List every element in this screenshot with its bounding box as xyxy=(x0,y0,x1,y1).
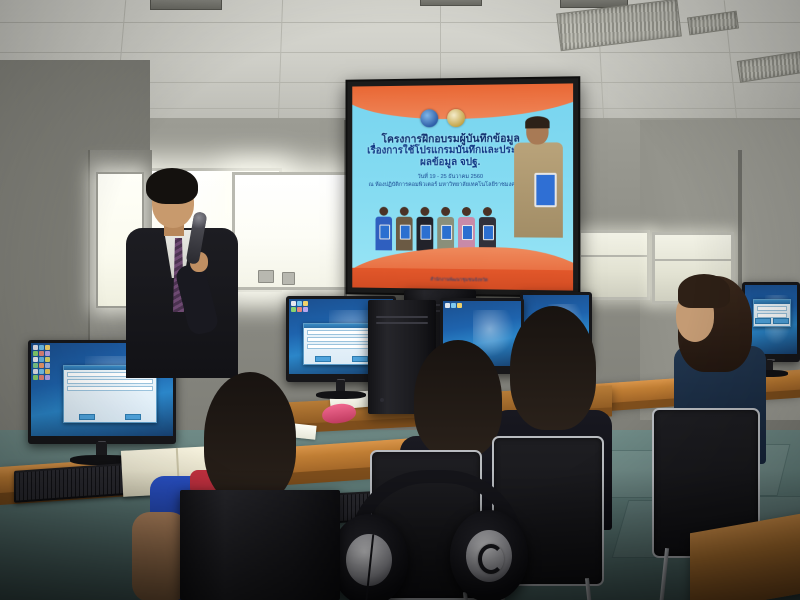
speaker-presenter xyxy=(128,168,240,388)
participant-center-head xyxy=(414,340,502,458)
recessed-ceiling-light-1 xyxy=(150,0,222,10)
participant-center-right-head xyxy=(510,306,596,430)
slide-person xyxy=(375,207,392,251)
slide-person xyxy=(417,207,434,251)
headphones-foreground[interactable] xyxy=(330,470,530,600)
slide-tablet-icon xyxy=(534,173,556,207)
headphone-earcup-right xyxy=(450,510,528,600)
desktop-icon-grid[interactable] xyxy=(33,345,50,380)
slide-officer-figure xyxy=(512,118,565,238)
slide-logo-row xyxy=(420,109,465,127)
slide-person xyxy=(458,207,475,251)
wall-outlet-2[interactable] xyxy=(282,272,295,285)
photo-scene: โครงการฝึกอบรมผู้บันทึกข้อมูล เรื่องการใ… xyxy=(0,0,800,600)
pc-tower-left xyxy=(180,490,340,600)
participant-blue-head xyxy=(204,372,296,504)
slide-person xyxy=(396,207,413,251)
slide-person xyxy=(479,207,496,251)
wall-outlet-1[interactable] xyxy=(258,270,274,283)
presenter-hair xyxy=(146,168,198,204)
projector-screen: โครงการฝึกอบรมผู้บันทึกข้อมูล เรื่องการใ… xyxy=(346,76,581,298)
desktop-icon-grid[interactable] xyxy=(291,301,308,312)
presentation-slide: โครงการฝึกอบรมผู้บันทึกข้อมูล เรื่องการใ… xyxy=(352,83,573,290)
slide-person xyxy=(437,207,454,251)
emblem-logo-blue-icon xyxy=(420,109,438,127)
emblem-logo-gold-icon xyxy=(447,109,465,127)
slide-group-photo xyxy=(375,207,495,252)
window-right-interior xyxy=(578,230,650,300)
recessed-ceiling-light-2 xyxy=(420,0,482,6)
